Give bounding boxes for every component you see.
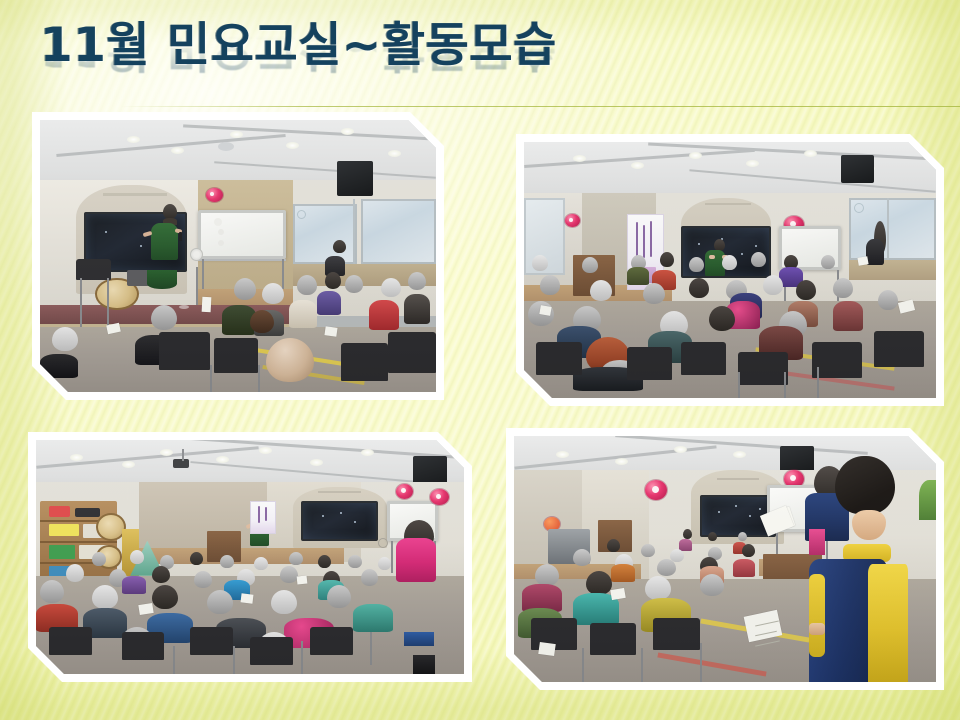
photo-top-left-image (40, 120, 436, 392)
photo-top-right-image (524, 142, 936, 398)
photo-top-left[interactable] (32, 112, 444, 400)
photo-bottom-left-image (36, 440, 464, 674)
title-divider-line (120, 106, 960, 107)
photo-bottom-left[interactable] (28, 432, 472, 682)
photo-bottom-right[interactable] (506, 428, 944, 690)
photo-top-right[interactable] (516, 134, 944, 406)
photo-bottom-right-image (514, 436, 936, 682)
slide-canvas: 11월 민요교실~활동모습 11월 민요교실~활동모습 (0, 0, 960, 720)
page-title-reflection: 11월 민요교실~활동모습 (40, 20, 740, 76)
slide-title-block: 11월 민요교실~활동모습 11월 민요교실~활동모습 (40, 18, 740, 104)
